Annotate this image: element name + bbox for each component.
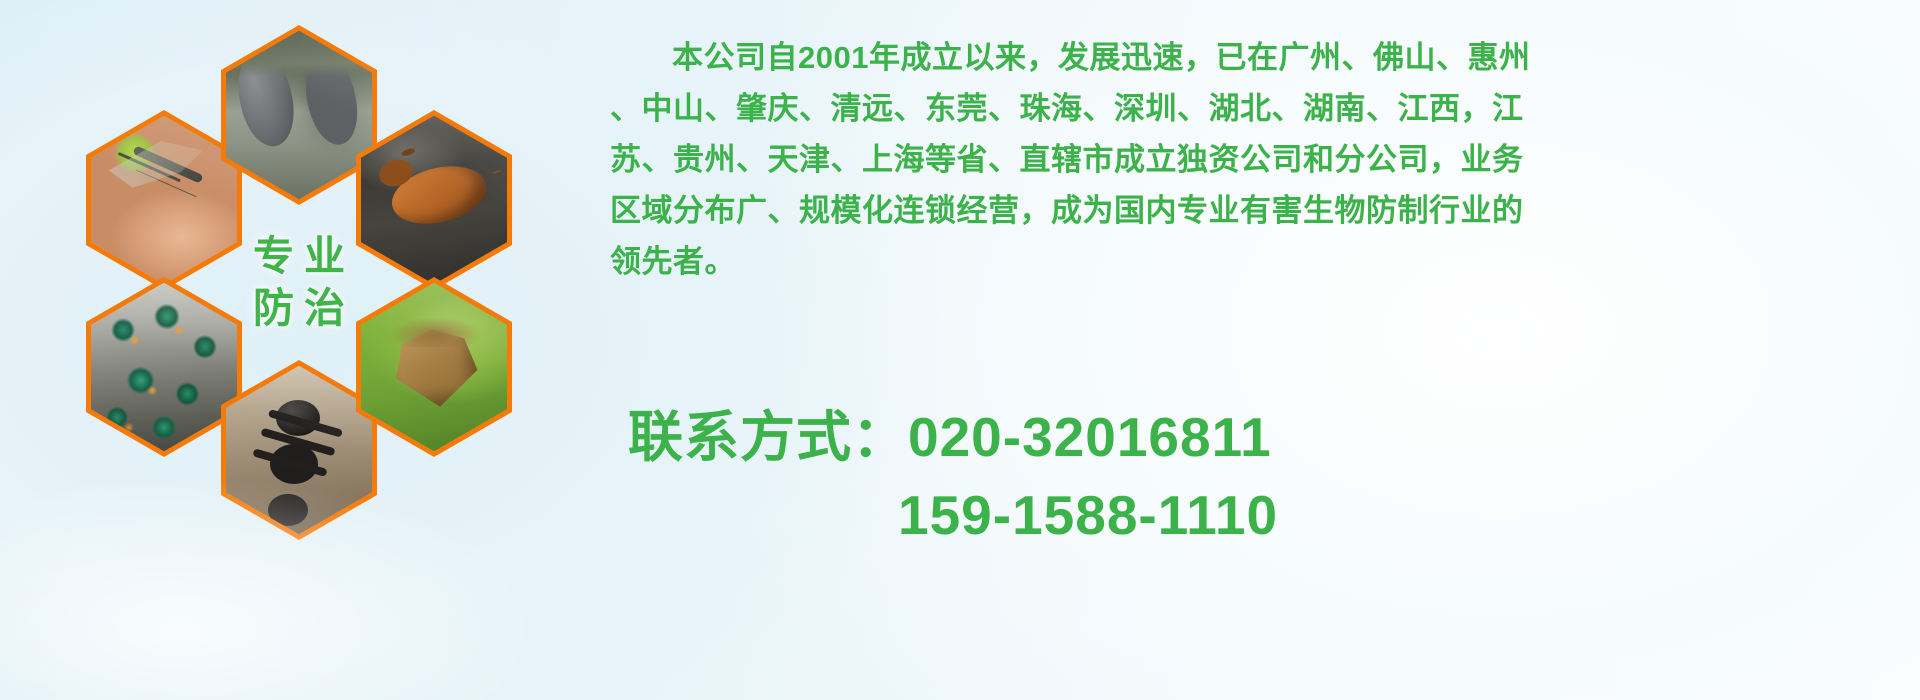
intro-line: 、中山、肇庆、清远、东莞、珠海、深圳、湖北、湖南、江西，江 xyxy=(610,83,1890,134)
intro-line: 本公司自2001年成立以来，发展迅速，已在广州、佛山、惠州 xyxy=(610,32,1890,83)
hex-image-frame xyxy=(361,116,507,285)
hex-cell-stink-bug[interactable] xyxy=(356,277,512,457)
company-intro-paragraph: 本公司自2001年成立以来，发展迅速，已在广州、佛山、惠州 、中山、肇庆、清远、… xyxy=(610,32,1890,287)
copy-column: 本公司自2001年成立以来，发展迅速，已在广州、佛山、惠州 、中山、肇庆、清远、… xyxy=(610,0,1900,700)
contact-block: 联系方式：020-32016811 159-1588-1110 xyxy=(610,398,1890,554)
hex-image-frame xyxy=(91,283,237,452)
hex-cell-cockroach[interactable] xyxy=(356,110,512,290)
contact-line-secondary[interactable]: 159-1588-1110 xyxy=(610,476,1890,554)
hex-image-frame xyxy=(226,31,372,200)
contact-line-primary[interactable]: 联系方式：020-32016811 xyxy=(610,398,1890,476)
cockroach-photo xyxy=(361,116,507,285)
flies-photo xyxy=(91,283,237,452)
hex-cell-flies[interactable] xyxy=(86,277,242,457)
hex-photo-cluster: 专业 防治 xyxy=(86,0,606,700)
hex-image-frame xyxy=(226,366,372,535)
intro-line: 区域分布广、规模化连锁经营，成为国内专业有害生物防制行业的 xyxy=(610,185,1890,236)
hex-cell-ant[interactable] xyxy=(221,360,377,540)
slogan-line-1: 专业 xyxy=(243,234,355,280)
hex-cell-mosquito[interactable] xyxy=(86,110,242,290)
ant-photo xyxy=(226,366,372,535)
intro-line: 领先者。 xyxy=(610,236,1890,287)
slogan-line-2: 防治 xyxy=(243,286,355,332)
rats-photo xyxy=(226,31,372,200)
hex-image-frame xyxy=(91,116,237,285)
hex-cell-rats[interactable] xyxy=(221,25,377,205)
hex-image-frame xyxy=(361,283,507,452)
mosquito-photo xyxy=(91,116,237,285)
intro-line: 苏、贵州、天津、上海等省、直辖市成立独资公司和分公司，业务 xyxy=(610,134,1890,185)
promo-banner: 专业 防治 本公司自2001年成立以来，发展迅速，已在广州、佛山、惠州 、中山、… xyxy=(0,0,1920,700)
stink-bug-photo xyxy=(361,283,507,452)
center-slogan: 专业 防治 xyxy=(221,193,377,373)
